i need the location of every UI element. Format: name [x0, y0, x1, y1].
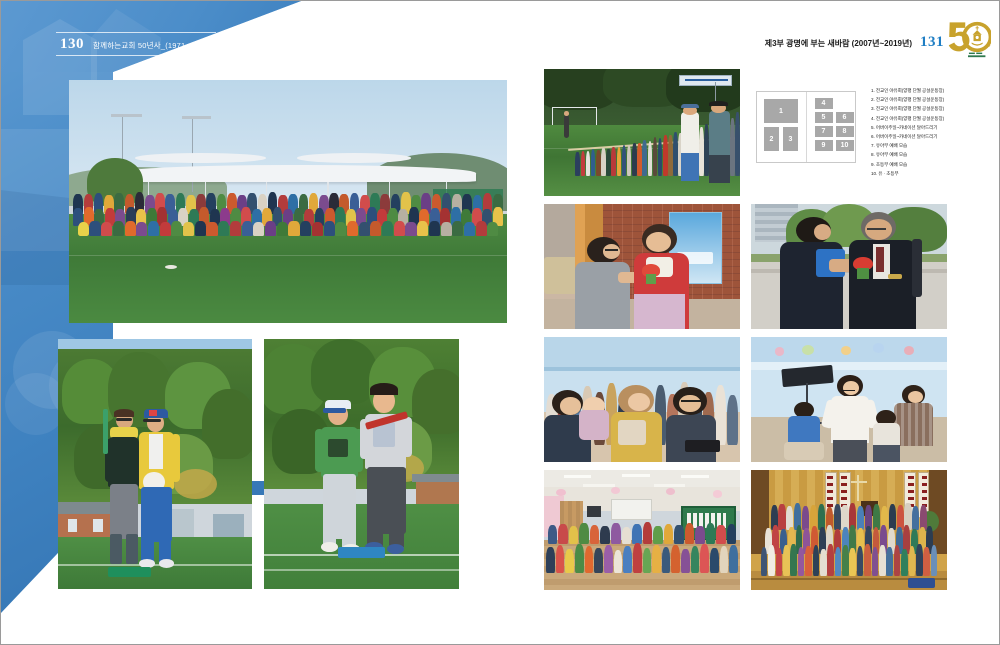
layout-key-cell-8: 8 [836, 126, 854, 137]
caption-number: 10. [871, 171, 877, 176]
caption-item: 9. 초등부 예배 모습 [871, 163, 983, 168]
layout-key-cell-10: 10 [836, 140, 854, 151]
caption-text: 유아부 예배 모습 [876, 143, 907, 148]
caption-text: 전교인 야유회(양평 단월 공설운동장) [876, 116, 944, 121]
caption-list: 1. 전교인 야유회(양평 단월 공설운동장) 2. 전교인 야유회(양평 단월… [871, 89, 983, 181]
photo-carnation-pinning-elder [751, 204, 947, 329]
caption-item: 6. 어버이주일~카네이션 달아드리기 [871, 135, 983, 140]
caption-text: 유 · 초등부 [878, 171, 898, 176]
fifty-anniversary-logo [945, 15, 991, 59]
photo-toddler-worship-teacher [751, 337, 947, 462]
caption-item: 8. 유아부 예배 모습 [871, 153, 983, 158]
layout-key-cell-1: 1 [764, 99, 798, 123]
layout-key-cell-4: 4 [815, 98, 833, 109]
ski-board-green [108, 567, 151, 577]
layout-key-left-page: 1 2 3 [757, 92, 806, 162]
layout-key-cell-9: 9 [815, 140, 833, 151]
right-page-number: 131 [920, 34, 944, 51]
left-running-title: 함께하는교회 50년사_(1971~2021) [93, 40, 210, 51]
caption-number: 1. [871, 88, 875, 93]
caption-number: 5. [871, 125, 875, 130]
caption-text: 초등부 예배 모습 [876, 162, 907, 167]
caption-text: 전교인 야유회(양평 단월 공설운동장) [876, 106, 944, 111]
photo-carnation-pinning-hanbok [544, 204, 740, 329]
layout-key-cell-6: 6 [836, 112, 854, 123]
photo-group-outing-pavilion [69, 80, 507, 323]
projection-screen [611, 499, 652, 520]
book-spread: 130 함께하는교회 50년사_(1971~2021) 제3부 광명에 부는 새… [0, 0, 1000, 645]
event-banner [679, 75, 732, 86]
caption-item: 1. 전교인 야유회(양평 단월 공설운동장) [871, 89, 983, 94]
crowd-row-front-seated [69, 220, 507, 236]
photo-two-person-ski-children [264, 339, 459, 589]
caption-item: 3. 전교인 야유회(양평 단월 공설운동장) [871, 107, 983, 112]
layout-key-cell-7: 7 [815, 126, 833, 137]
caption-item: 2. 전교인 야유회(양평 단월 공설운동장) [871, 98, 983, 103]
ski-board-blue [338, 547, 385, 558]
caption-number: 6. [871, 134, 875, 139]
caption-text: 어버이주일~카네이션 달아드리기 [876, 134, 938, 139]
left-page-number: 130 [60, 36, 84, 53]
layout-key-right-page: 4 5 6 7 8 9 10 [806, 92, 856, 162]
photo-toddler-worship-parents [544, 337, 740, 462]
caption-number: 8. [871, 152, 875, 157]
wrist-watch [888, 274, 902, 279]
layout-key-cell-2: 2 [764, 127, 779, 151]
photo-children-group-sanctuary [751, 470, 947, 590]
caption-number: 3. [871, 106, 875, 111]
caption-text: 전교인 야유회(양평 단월 공설운동장) [876, 88, 944, 93]
children-group-front-row [751, 542, 947, 576]
caption-text: 어버이주일~카네이션 달아드리기 [876, 125, 938, 130]
caption-text: 유아부 예배 모습 [876, 152, 907, 157]
caption-item: 5. 어버이주일~카네이션 달아드리기 [871, 126, 983, 131]
caption-number: 9. [871, 162, 875, 167]
photo-two-person-ski-adults [58, 339, 252, 589]
caption-item: 10. 유 · 초등부 [871, 172, 983, 177]
photo-layout-key: 1 2 3 4 5 6 7 8 9 10 [756, 91, 856, 163]
photo-tug-of-war [544, 69, 740, 196]
layout-key-cell-3: 3 [783, 127, 798, 151]
right-page-header: 제3부 광명에 부는 새바람 (2007년~2019년) 131 [765, 34, 944, 51]
caption-text: 전교인 야유회(양평 단월 공설운동장) [876, 97, 944, 102]
seated-children-rows [544, 520, 740, 544]
caption-item: 7. 유아부 예배 모습 [871, 144, 983, 149]
caption-number: 4. [871, 116, 875, 121]
headset-mic [841, 390, 855, 392]
seated-children-rows-front [544, 542, 740, 573]
right-running-title: 제3부 광명에 부는 새바람 (2007년~2019년) [765, 38, 912, 49]
caption-item: 4. 전교인 야유회(양평 단월 공설운동장) [871, 117, 983, 122]
caption-number: 2. [871, 97, 875, 102]
left-page-header: 130 함께하는교회 50년사_(1971~2021) [56, 32, 216, 56]
floor-sign [908, 578, 935, 588]
photo-elementary-worship-hall [544, 470, 740, 590]
hymnal-book [685, 440, 720, 453]
caption-number: 7. [871, 143, 875, 148]
layout-key-cell-5: 5 [815, 112, 833, 123]
